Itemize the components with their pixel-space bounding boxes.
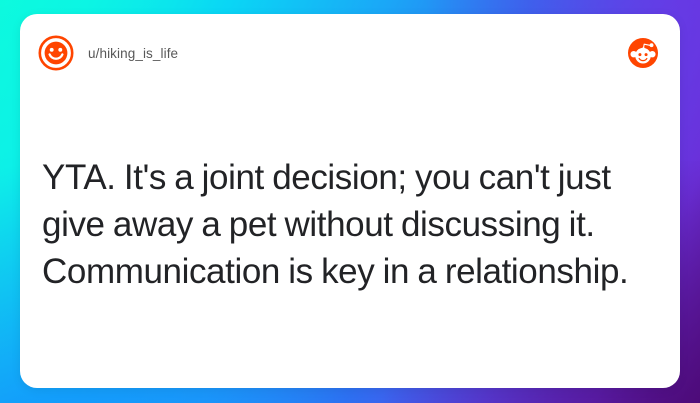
username-label: u/hiking_is_life (88, 46, 178, 61)
reddit-comment-card: u/hiking_is_life YTA. It's a joint decis… (20, 14, 680, 388)
comment-body: YTA. It's a joint decision; you can't ju… (42, 154, 658, 295)
comment-header: u/hiking_is_life (20, 14, 680, 92)
comment-text: YTA. It's a joint decision; you can't ju… (42, 154, 658, 295)
smiley-face-icon (38, 35, 74, 71)
reddit-snoo-icon[interactable] (628, 38, 658, 68)
